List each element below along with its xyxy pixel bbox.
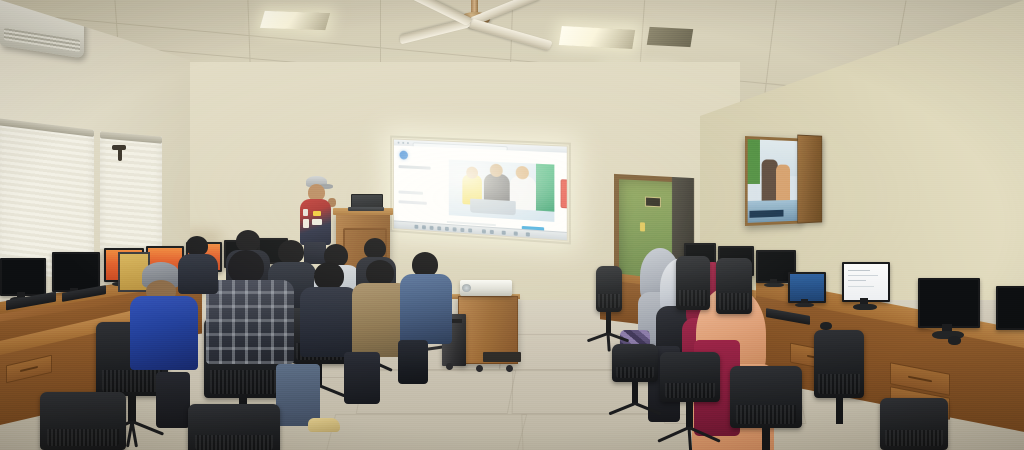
tv-news-ticker (750, 210, 784, 218)
screen-frame (390, 136, 571, 245)
presenter-jacket (300, 199, 331, 245)
ceiling-light-panel-1 (260, 11, 330, 30)
cart-vent (483, 352, 521, 362)
projector-cart (442, 286, 518, 370)
projector-lens (462, 284, 471, 292)
door-sign (645, 197, 661, 208)
ac-vent (4, 28, 80, 52)
window-blind-left-2[interactable] (100, 131, 162, 254)
attendee-legs-left-1 (156, 372, 190, 428)
attendee-legs-left-3 (344, 352, 380, 404)
presenter-legs (304, 242, 326, 264)
laptop-keyboard[interactable] (348, 207, 384, 211)
computer-lab-scene (0, 0, 1024, 450)
presenter-laptop[interactable] (348, 194, 382, 212)
attendee-shoe-left (308, 418, 340, 432)
cart-caster-2 (476, 365, 483, 372)
tv-screen (748, 139, 800, 223)
door-notice (640, 222, 645, 231)
wall-bracket-vertical (118, 148, 122, 161)
wall-mounted-tv-cabinet (745, 136, 821, 224)
cart-caster-3 (506, 365, 513, 372)
mouse-right-1[interactable] (820, 322, 832, 330)
ceiling-fan-front (408, 0, 568, 60)
attendee-legs-left-2 (276, 364, 320, 426)
projection-screen (393, 139, 568, 242)
cart-cabinet (458, 296, 518, 364)
ceiling-light-panel-2 (559, 26, 635, 49)
ceiling-light-panel-4 (647, 27, 693, 47)
wall-mounted-tv (745, 136, 802, 226)
attendee-legs-left-4 (398, 340, 428, 384)
cabinet-door[interactable] (797, 135, 822, 224)
cart-caster-1 (446, 363, 453, 370)
mouse-right-2[interactable] (948, 336, 961, 345)
projector[interactable] (460, 280, 512, 296)
plaid-pattern (206, 280, 294, 364)
